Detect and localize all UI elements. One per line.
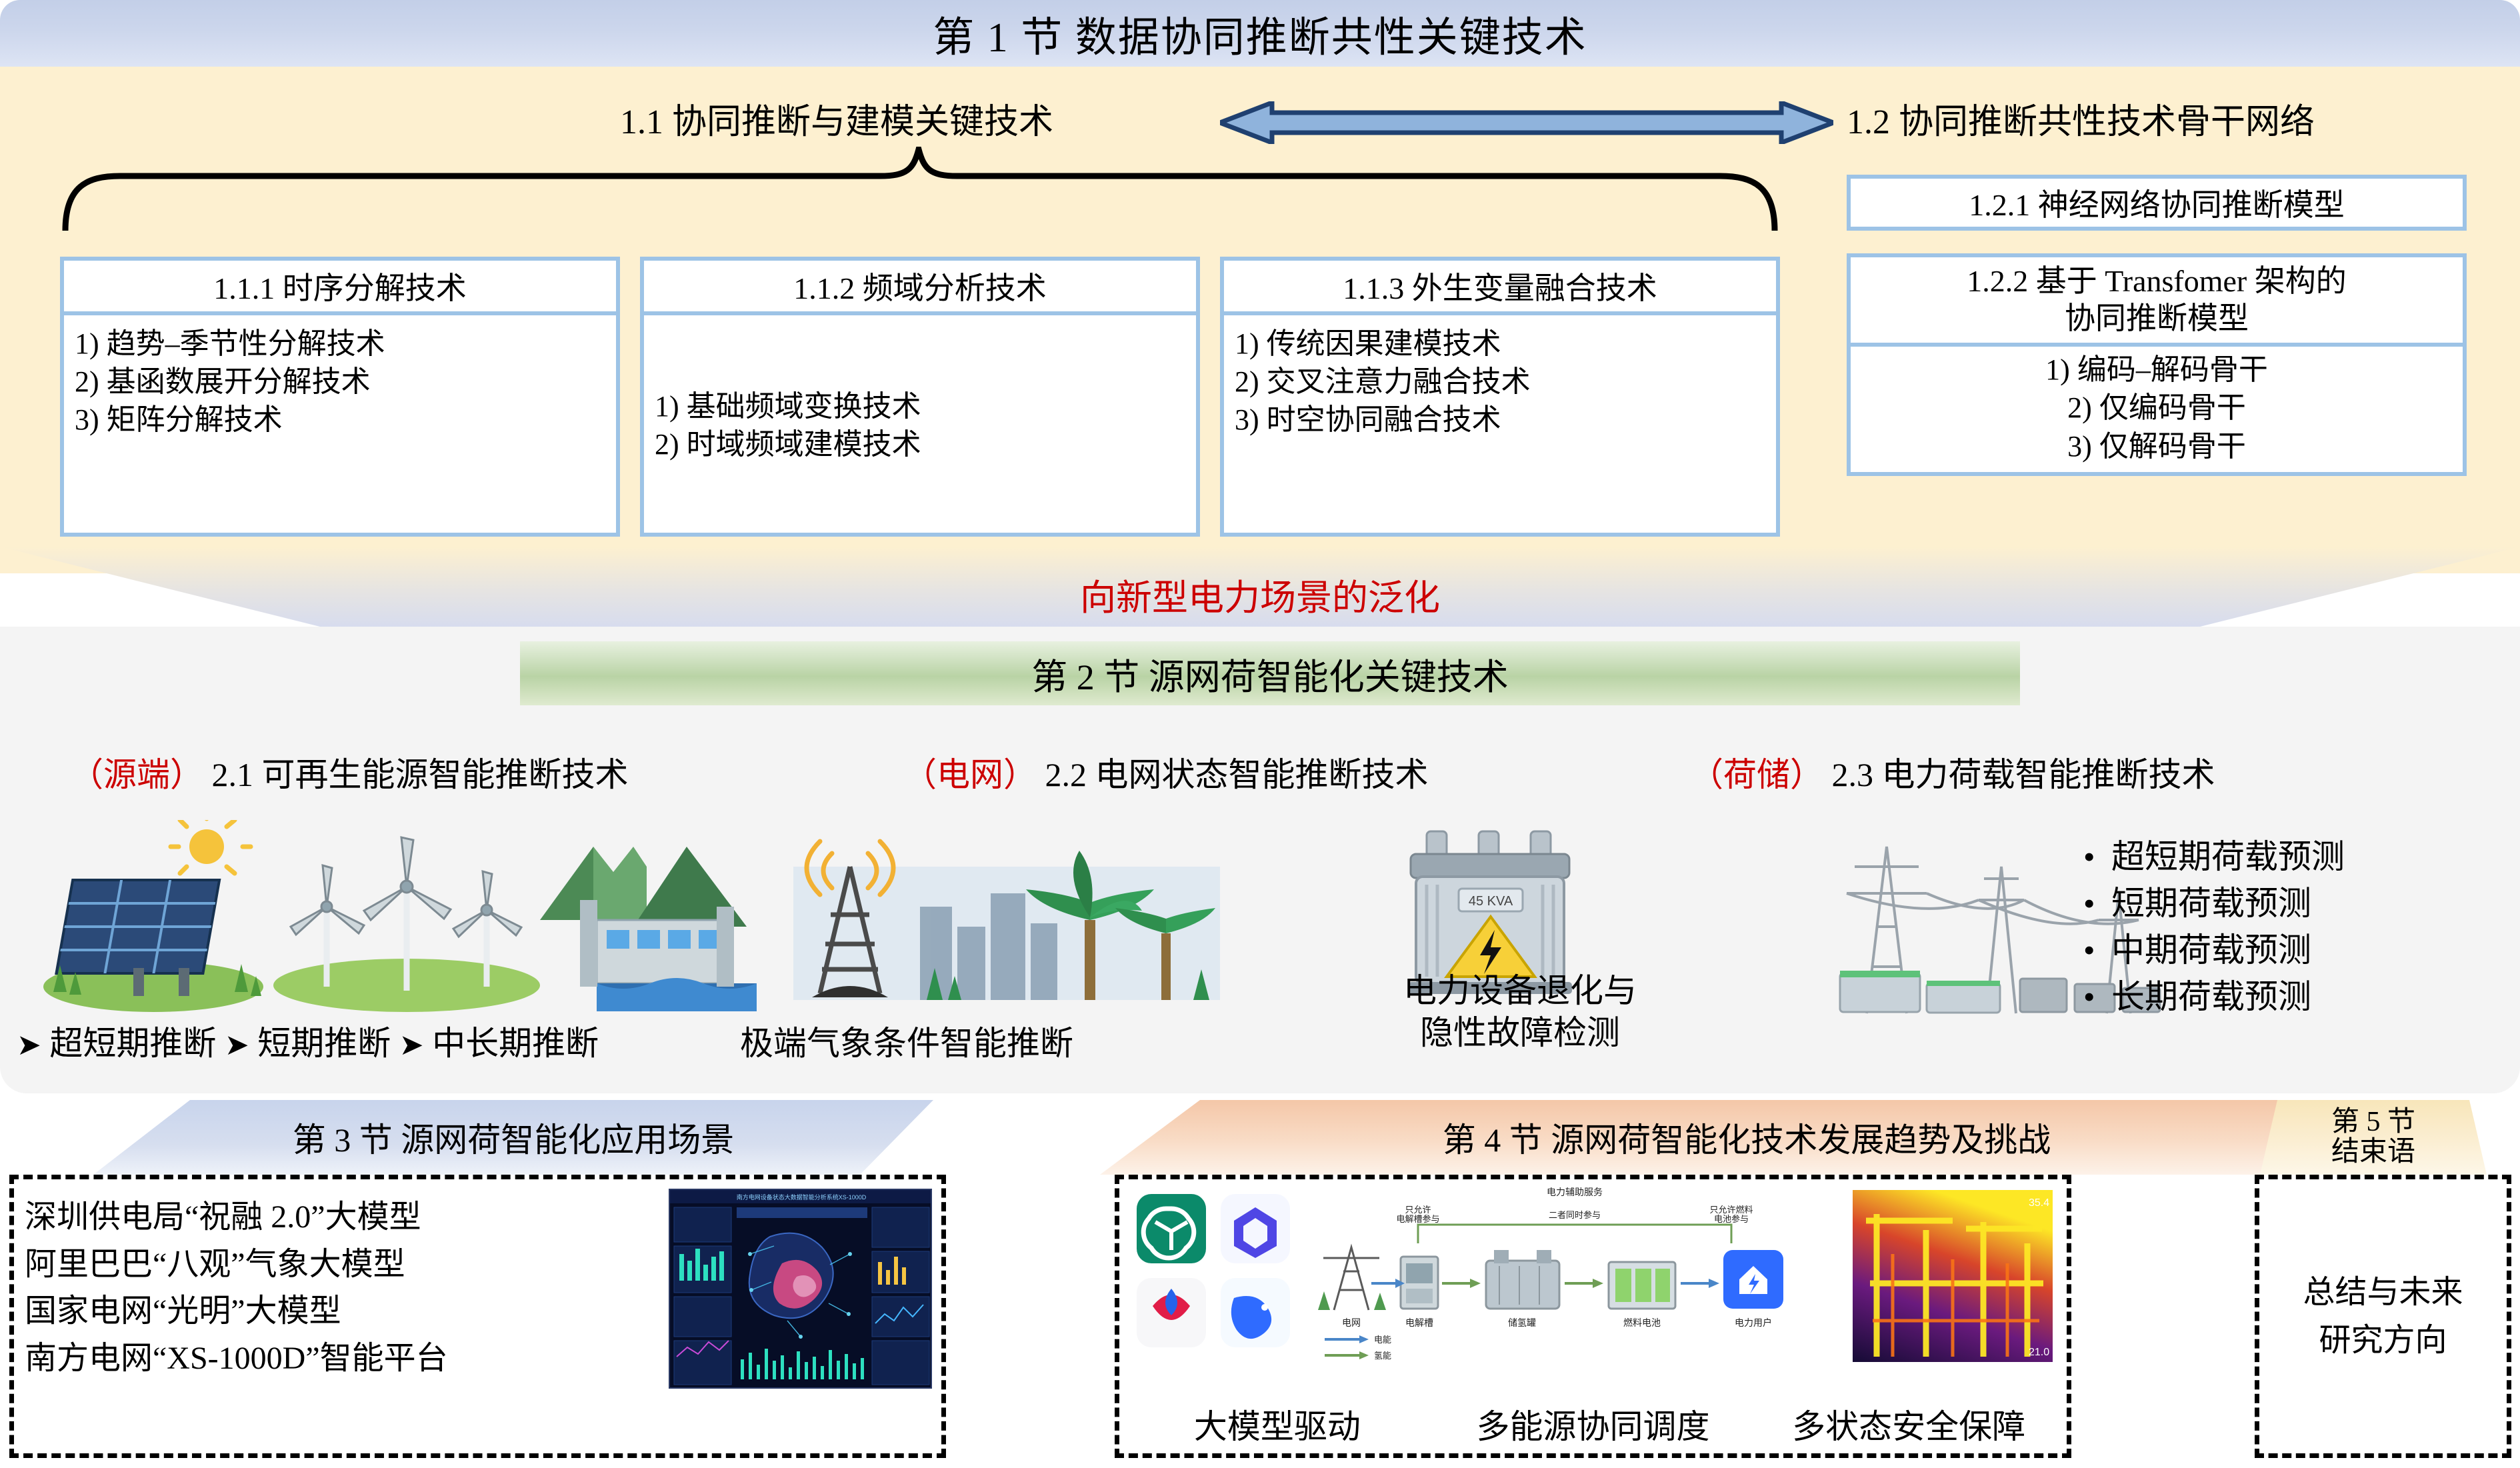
tech-box-122-title: 1.2.2 基于 Transfomer 架构的 协同推断模型 — [1847, 253, 2467, 347]
section2-2-text: 2.2 电网状态智能推断技术 — [1045, 756, 1429, 793]
whale-logo-icon — [1221, 1278, 1290, 1347]
arrow-bullet-icon: ➤ — [17, 1029, 41, 1061]
slide-root: 第 1 节 数据协同推断共性关键技术 1.1 协同推断与建模关键技术 1.2 协… — [0, 0, 2520, 1468]
list-item: 1) 趋势–季节性分解技术 — [75, 325, 605, 363]
node-grid-label: 电网 — [1342, 1317, 1361, 1328]
section3-list: 深圳供电局“祝融 2.0”大模型 阿里巴巴“八观”气象大模型 国家电网“光明”大… — [25, 1194, 448, 1382]
section2-3-heading: （荷储） 2.3 电力荷载智能推断技术 — [1690, 748, 2215, 796]
node-electrolyzer-label: 电解槽 — [1405, 1317, 1433, 1328]
power-user-icon — [1723, 1250, 1783, 1309]
electrolyzer-icon — [1401, 1257, 1438, 1309]
weather-caption: 极端气象条件智能推断 — [740, 1017, 1073, 1065]
list-item: 超短期推断 — [49, 1025, 216, 1062]
section5-banner: 第 5 节 结束语 — [2260, 1100, 2487, 1175]
generalization-label: 向新型电力场景的泛化 — [0, 568, 2520, 621]
section2-2-heading: （电网） 2.2 电网状态智能推断技术 — [903, 748, 1429, 796]
section2-1-text: 2.1 可再生能源智能推断技术 — [212, 756, 629, 793]
list-item: 阿里巴巴“八观”气象大模型 — [25, 1241, 448, 1289]
list-item: 3) 矩阵分解技术 — [75, 401, 605, 439]
curly-brace — [60, 147, 1780, 233]
tech-box-112-title: 1.1.2 频域分析技术 — [640, 257, 1200, 315]
list-item: 短期推断 — [257, 1025, 391, 1062]
section2-title: 第 2 节 源网荷智能化关键技术 — [520, 641, 2020, 705]
section3-banner: 第 3 节 源网荷智能化应用场景 — [93, 1100, 933, 1175]
list-item: 1) 传统因果建模技术 — [1235, 325, 1765, 363]
hydrogen-tank-icon — [1486, 1250, 1559, 1309]
list-item: 中期荷载预测 — [2083, 927, 2345, 973]
dashboard-screenshot: 南方电网设备状态大数据智能分析系统XS-1000D — [669, 1189, 932, 1389]
tech-box-121-title: 1.2.1 神经网络协同推断模型 — [1847, 175, 2467, 231]
section1-1-box-row: 1.1.1 时序分解技术 1) 趋势–季节性分解技术 2) 基函数展开分解技术 … — [60, 257, 1780, 537]
section2-3-text: 2.3 电力荷载智能推断技术 — [1832, 756, 2215, 793]
diagram-left-label-1: 只允许 — [1405, 1205, 1431, 1215]
diagram-left-label-2: 电解槽参与 — [1396, 1214, 1439, 1224]
tech-box-112: 1.1.2 频域分析技术 1) 基础频域变换技术 2) 时域频域建模技术 — [640, 257, 1200, 537]
diagram-top-label: 电力辅助服务 — [1547, 1187, 1603, 1197]
double-arrow-icon — [1220, 101, 1833, 144]
legend-hydrogen: 氢能 — [1325, 1351, 1391, 1361]
energy-flow-diagram: 电力辅助服务 只允许 电解槽参与 二者同时参与 只允许燃料 电池参与 电网 — [1305, 1183, 1845, 1370]
list-item: 超短期荷载预测 — [2083, 833, 2345, 880]
thermal-image: 35.4 21.0 — [1853, 1190, 2053, 1362]
section4-box: 电力辅助服务 只允许 电解槽参与 二者同时参与 只允许燃料 电池参与 电网 — [1115, 1175, 2071, 1458]
svg-text:45 KVA: 45 KVA — [1469, 894, 1513, 909]
tech-box-122: 1.2.2 基于 Transfomer 架构的 协同推断模型 1) 编码–解码骨… — [1847, 253, 2467, 476]
llm-logos-group — [1134, 1191, 1301, 1358]
section1-1-heading: 1.1 协同推断与建模关键技术 — [620, 93, 1053, 143]
arrow-bullet-icon: ➤ — [399, 1029, 424, 1061]
diagram-right-label-2: 电池参与 — [1714, 1214, 1749, 1224]
load-storage-tag: （荷储） — [1690, 756, 1823, 793]
fuel-cell-icon — [1609, 1262, 1675, 1309]
list-item: 南方电网“XS-1000D”智能平台 — [25, 1335, 448, 1383]
section1-2-heading: 1.2 协同推断共性技术骨干网络 — [1847, 93, 2315, 143]
wind-turbine-icon — [267, 827, 547, 1013]
section2-3-bullets: 超短期荷载预测 短期荷载预测 中期荷载预测 长期荷载预测 — [2083, 833, 2345, 1020]
tech-box-111-title: 1.1.1 时序分解技术 — [60, 257, 620, 315]
section4-banner: 第 4 节 源网荷智能化技术发展趋势及挑战 — [1100, 1100, 2393, 1175]
tech-box-113-title: 1.1.3 外生变量融合技术 — [1220, 257, 1780, 315]
section2-1-bullets: ➤ 超短期推断 ➤ 短期推断 ➤ 中长期推断 — [17, 1017, 599, 1065]
tech-box-122-body: 1) 编码–解码骨干 2) 仅编码骨干 3) 仅解码骨干 — [1847, 347, 2467, 476]
list-item: 2) 时域频域建模技术 — [655, 425, 1185, 463]
caption-multi-energy: 多能源协同调度 — [1435, 1400, 1751, 1448]
node-user-label: 电力用户 — [1735, 1317, 1772, 1328]
device-caption-line2: 隐性故障检测 — [1347, 1012, 1693, 1054]
section5-line1: 总结与未来 — [2303, 1269, 2463, 1317]
caption-llm-driven: 大模型驱动 — [1119, 1400, 1435, 1448]
list-item: 短期荷载预测 — [2083, 880, 2345, 927]
node-tank-label: 储氢罐 — [1508, 1317, 1536, 1328]
legend-hydrogen-label: 氢能 — [1374, 1351, 1391, 1361]
device-degradation-caption: 电力设备退化与 隐性故障检测 — [1347, 970, 1693, 1053]
thermal-max-label: 35.4 — [2029, 1197, 2049, 1209]
list-item: 2) 基函数展开分解技术 — [75, 363, 605, 401]
diagram-right-label-1: 只允许燃料 — [1709, 1205, 1753, 1215]
section4-captions: 大模型驱动 多能源协同调度 多状态安全保障 — [1119, 1400, 2067, 1448]
section2-1-heading: （源端） 2.1 可再生能源智能推断技术 — [70, 748, 629, 796]
hydro-plant-icon — [533, 820, 767, 1020]
extreme-weather-icon — [793, 827, 1220, 1020]
tech-box-111: 1.1.1 时序分解技术 1) 趋势–季节性分解技术 2) 基函数展开分解技术 … — [60, 257, 620, 537]
list-item: 2) 仅编码骨干 — [1851, 389, 2463, 427]
section1-title: 第 1 节 数据协同推断共性关键技术 — [0, 0, 2520, 67]
deepseek-logo-icon — [1137, 1278, 1206, 1347]
device-caption-line1: 电力设备退化与 — [1347, 970, 1693, 1012]
grid-tower-icon — [1323, 1247, 1379, 1310]
solar-panel-icon — [40, 820, 267, 1013]
section5-banner-line2: 结束语 — [2331, 1137, 2415, 1167]
section5-box: 总结与未来 研究方向 — [2255, 1175, 2511, 1458]
node-fuelcell-label: 燃料电池 — [1623, 1317, 1661, 1328]
openai-logo-icon — [1137, 1194, 1206, 1263]
tech-box-111-body: 1) 趋势–季节性分解技术 2) 基函数展开分解技术 3) 矩阵分解技术 — [60, 315, 620, 537]
caption-multi-state-safety: 多状态安全保障 — [1751, 1400, 2067, 1448]
arrow-bullet-icon: ➤ — [225, 1029, 249, 1061]
tech-box-112-body: 1) 基础频域变换技术 2) 时域频域建模技术 — [640, 315, 1200, 537]
section5-line2: 研究方向 — [2319, 1317, 2447, 1365]
legend-power-label: 电能 — [1374, 1335, 1391, 1345]
list-item: 3) 仅解码骨干 — [1851, 427, 2463, 465]
diagram-mid-label: 二者同时参与 — [1549, 1210, 1601, 1220]
list-item: 长期荷载预测 — [2083, 973, 2345, 1020]
dashboard-title: 南方电网设备状态大数据智能分析系统XS-1000D — [737, 1193, 867, 1201]
list-item: 2) 交叉注意力融合技术 — [1235, 363, 1765, 401]
qwen-logo-icon — [1221, 1194, 1290, 1263]
tech-box-122-title-line2: 协同推断模型 — [1855, 300, 2459, 337]
legend-power: 电能 — [1325, 1335, 1391, 1345]
list-item: 国家电网“光明”大模型 — [25, 1288, 448, 1335]
list-item: 深圳供电局“祝融 2.0”大模型 — [25, 1194, 448, 1241]
tech-box-122-title-line1: 1.2.2 基于 Transfomer 架构的 — [1855, 263, 2459, 300]
section5-banner-line1: 第 5 节 — [2331, 1107, 2415, 1137]
tech-box-113-body: 1) 传统因果建模技术 2) 交叉注意力融合技术 3) 时空协同融合技术 — [1220, 315, 1780, 537]
list-item: 1) 基础频域变换技术 — [655, 387, 1185, 425]
source-tag: （源端） — [70, 756, 203, 793]
list-item: 1) 编码–解码骨干 — [1851, 351, 2463, 389]
grid-tag: （电网） — [903, 756, 1037, 793]
tech-box-113: 1.1.3 外生变量融合技术 1) 传统因果建模技术 2) 交叉注意力融合技术 … — [1220, 257, 1780, 537]
section3-box: 深圳供电局“祝融 2.0”大模型 阿里巴巴“八观”气象大模型 国家电网“光明”大… — [9, 1175, 946, 1458]
tech-box-121: 1.2.1 神经网络协同推断模型 — [1847, 175, 2467, 231]
list-item: 中长期推断 — [432, 1025, 599, 1062]
thermal-min-label: 21.0 — [2029, 1347, 2049, 1358]
list-item: 3) 时空协同融合技术 — [1235, 401, 1765, 439]
